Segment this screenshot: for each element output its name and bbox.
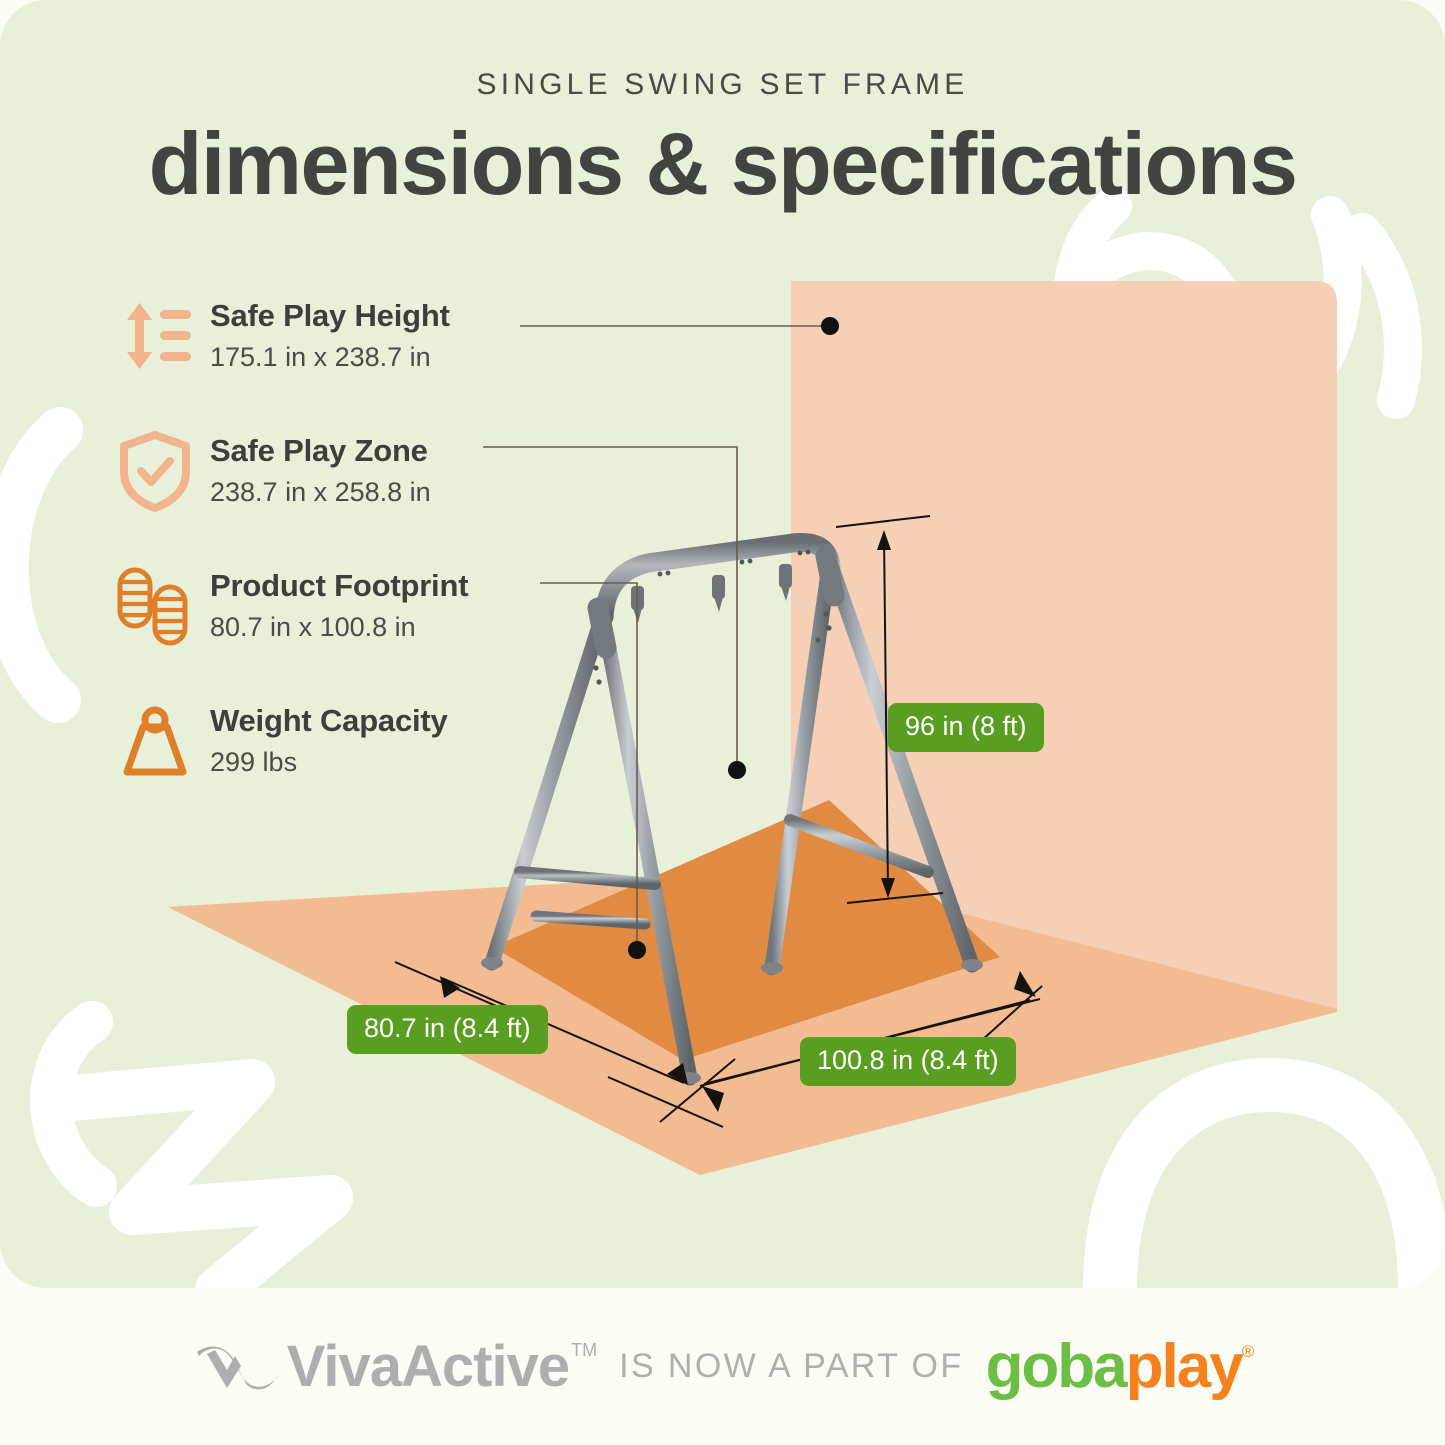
spec-value: 80.7 in x 100.8 in (210, 612, 468, 643)
main-green-panel: SINGLE SWING SET FRAME dimensions & spec… (0, 0, 1445, 1288)
weight-icon (112, 698, 198, 784)
spec-title: Safe Play Height (210, 299, 450, 333)
spec-item-safe-play-zone: Safe Play Zone 238.7 in x 258.8 in (112, 428, 582, 524)
spec-value: 238.7 in x 258.8 in (210, 477, 431, 508)
gobaplay-play-text: play (1126, 1336, 1242, 1398)
dimension-label-height: 96 in (8 ft) (888, 703, 1044, 752)
height-arrow-icon (112, 293, 198, 379)
footprints-icon (112, 563, 198, 649)
dimension-label-depth: 100.8 in (8.4 ft) (800, 1037, 1016, 1086)
vivaactive-logo: VivaActive TM (191, 1336, 597, 1398)
spec-item-product-footprint: Product Footprint 80.7 in x 100.8 in (112, 563, 582, 659)
vivaactive-mark-icon (191, 1336, 287, 1398)
footer-branding-bar: VivaActive TM IS NOW A PART OF goba play… (0, 1288, 1445, 1445)
spec-title: Weight Capacity (210, 704, 448, 738)
infographic-page: SINGLE SWING SET FRAME dimensions & spec… (0, 0, 1445, 1445)
spec-title: Product Footprint (210, 569, 468, 603)
specifications-list: Safe Play Height 175.1 in x 238.7 in Saf… (112, 293, 582, 833)
shield-check-icon (112, 428, 198, 514)
spec-value: 175.1 in x 238.7 in (210, 342, 450, 373)
vivaactive-wordmark: VivaActive (287, 1338, 569, 1396)
dimension-label-width: 80.7 in (8.4 ft) (347, 1005, 548, 1054)
gobaplay-logo: goba play ® (986, 1336, 1255, 1398)
registered-symbol: ® (1242, 1342, 1255, 1362)
gobaplay-goba-text: goba (986, 1336, 1126, 1398)
spec-title: Safe Play Zone (210, 434, 431, 468)
trademark-symbol: TM (571, 1340, 597, 1361)
spec-item-weight-capacity: Weight Capacity 299 lbs (112, 698, 582, 794)
spec-value: 299 lbs (210, 747, 448, 778)
spec-item-safe-play-height: Safe Play Height 175.1 in x 238.7 in (112, 293, 582, 389)
transition-text: IS NOW A PART OF (619, 1347, 963, 1386)
